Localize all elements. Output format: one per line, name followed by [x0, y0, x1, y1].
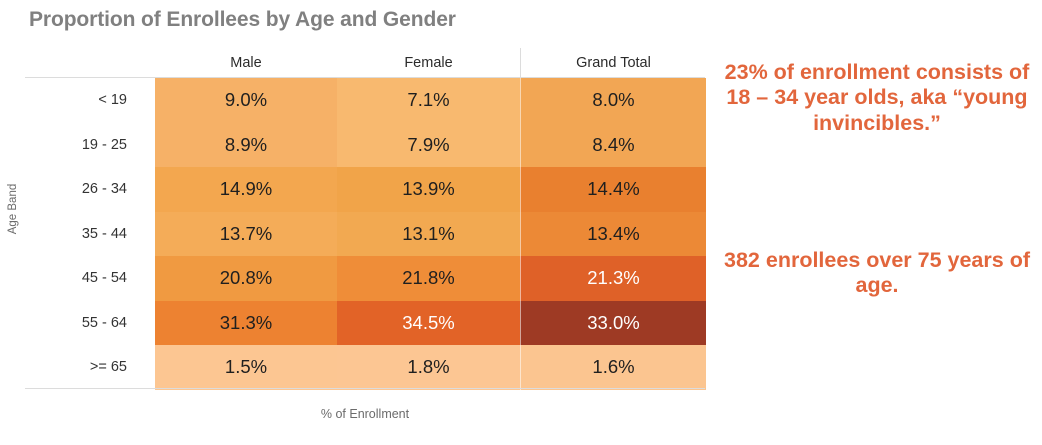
row-label: 55 - 64	[25, 301, 155, 346]
column-header-grand-total: Grand Total	[520, 48, 706, 77]
table-row: >= 65 1.5% 1.8% 1.6%	[25, 345, 705, 390]
cell-grand-total: 8.0%	[520, 78, 706, 123]
table-row: 26 - 34 14.9% 13.9% 14.4%	[25, 167, 705, 212]
cell-female: 7.1%	[337, 78, 520, 123]
table-row: 35 - 44 13.7% 13.1% 13.4%	[25, 212, 705, 257]
cell-female: 1.8%	[337, 345, 520, 390]
row-label: >= 65	[25, 345, 155, 390]
column-header-female: Female	[337, 48, 520, 77]
heatmap-matrix: Male Female Grand Total < 19 9.0% 7.1% 8…	[25, 48, 705, 390]
annotation-young-invincibles: 23% of enrollment consists of 18 – 34 ye…	[718, 60, 1036, 136]
matrix-bottom-rule	[25, 388, 705, 389]
cell-grand-total: 1.6%	[520, 345, 706, 390]
table-row: 55 - 64 31.3% 34.5% 33.0%	[25, 301, 705, 346]
cell-female: 13.1%	[337, 212, 520, 257]
column-header-rowlabel	[25, 48, 155, 77]
cell-female: 34.5%	[337, 301, 520, 346]
table-row: < 19 9.0% 7.1% 8.0%	[25, 78, 705, 123]
heatmap-slide: Proportion of Enrollees by Age and Gende…	[0, 0, 1042, 445]
cell-female: 7.9%	[337, 123, 520, 168]
cell-male: 1.5%	[155, 345, 337, 390]
column-header-male: Male	[155, 48, 337, 77]
cell-male: 20.8%	[155, 256, 337, 301]
annotation-over-75: 382 enrollees over 75 years of age.	[718, 248, 1036, 299]
cell-grand-total: 13.4%	[520, 212, 706, 257]
y-axis-title: Age Band	[7, 174, 19, 244]
cell-male: 8.9%	[155, 123, 337, 168]
cell-male: 13.7%	[155, 212, 337, 257]
cell-male: 14.9%	[155, 167, 337, 212]
cell-grand-total: 8.4%	[520, 123, 706, 168]
cell-male: 9.0%	[155, 78, 337, 123]
table-row: 45 - 54 20.8% 21.8% 21.3%	[25, 256, 705, 301]
cell-male: 31.3%	[155, 301, 337, 346]
table-row: 19 - 25 8.9% 7.9% 8.4%	[25, 123, 705, 168]
row-label: < 19	[25, 78, 155, 123]
row-label: 45 - 54	[25, 256, 155, 301]
page-title: Proportion of Enrollees by Age and Gende…	[29, 8, 456, 32]
row-label: 35 - 44	[25, 212, 155, 257]
cell-grand-total: 14.4%	[520, 167, 706, 212]
row-label: 26 - 34	[25, 167, 155, 212]
cell-grand-total: 21.3%	[520, 256, 706, 301]
cell-grand-total: 33.0%	[520, 301, 706, 346]
cell-female: 13.9%	[337, 167, 520, 212]
matrix-header-row: Male Female Grand Total	[25, 48, 705, 78]
cell-female: 21.8%	[337, 256, 520, 301]
row-label: 19 - 25	[25, 123, 155, 168]
x-axis-title: % of Enrollment	[25, 407, 705, 421]
